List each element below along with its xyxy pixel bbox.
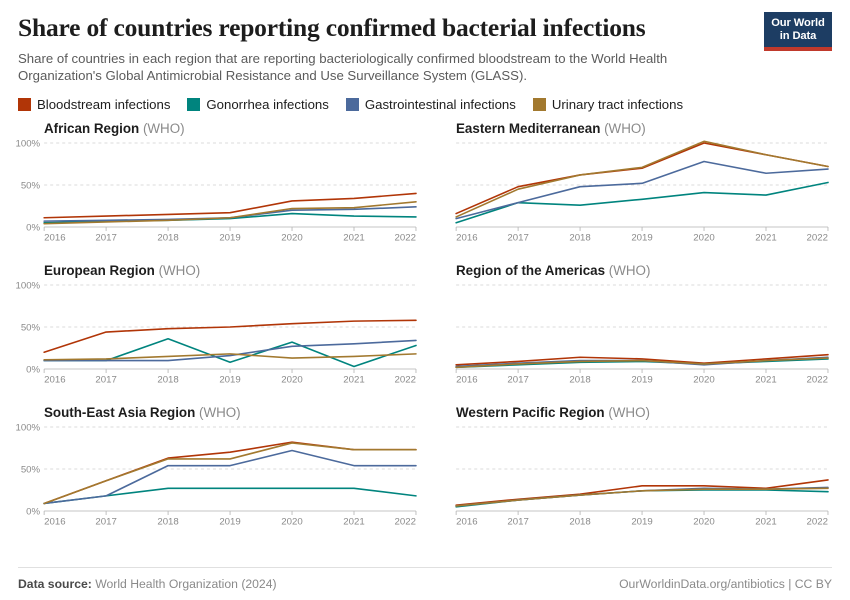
x-tick-label: 2019 [219,516,240,527]
x-tick-label: 2021 [755,232,776,243]
series-line-bloodstream-infections[interactable] [456,143,828,214]
panel-title-south-east-asia-region: South-East Asia Region (WHO) [44,405,420,420]
y-tick-label: 0% [26,364,40,375]
panel-region-name: Western Pacific Region [456,405,605,420]
chart-footer: Data source: World Health Organization (… [18,567,832,600]
x-tick-label: 2019 [631,516,652,527]
x-tick-label: 2021 [343,516,364,527]
attribution-link[interactable]: OurWorldinData.org/antibiotics | CC BY [619,577,832,591]
plot-svg-western-pacific-region: 2016201720182019202020212022 [430,423,832,527]
x-tick-label: 2017 [95,516,116,527]
x-tick-label: 2019 [631,374,652,385]
panel-region-name: Eastern Mediterranean [456,121,600,136]
x-tick-label: 2022 [807,374,828,385]
panel-region-suffix: (WHO) [605,405,650,420]
legend-item-1[interactable]: Gonorrhea infections [187,97,328,112]
x-tick-label: 2016 [456,516,477,527]
plot-svg-african-region: 0%50%100%2016201720182019202020212022 [18,139,420,243]
legend-swatch-icon [18,98,31,111]
y-tick-label: 50% [21,464,41,475]
plot-area-region-of-the-americas: 2016201720182019202020212022 [430,281,832,385]
panel-title-eastern-mediterranean: Eastern Mediterranean (WHO) [456,121,832,136]
series-line-gastrointestinal-infections[interactable] [44,340,416,360]
x-tick-label: 2021 [755,374,776,385]
x-tick-label: 2016 [44,232,65,243]
chart-panel-african-region: African Region (WHO)0%50%100%20162017201… [18,121,420,263]
x-tick-label: 2022 [807,516,828,527]
x-tick-label: 2020 [693,516,714,527]
series-line-gonorrhea-infections[interactable] [456,490,828,507]
x-tick-label: 2020 [281,374,302,385]
data-source: Data source: World Health Organization (… [18,577,277,591]
legend-item-label: Urinary tract infections [552,97,683,112]
y-tick-label: 50% [21,180,41,191]
plot-area-south-east-asia-region: 0%50%100%2016201720182019202020212022 [18,423,420,527]
x-tick-label: 2016 [44,516,65,527]
x-tick-label: 2017 [507,516,528,527]
x-tick-label: 2018 [569,516,590,527]
chart-panel-south-east-asia-region: South-East Asia Region (WHO)0%50%100%201… [18,405,420,553]
x-tick-label: 2018 [569,232,590,243]
plot-area-western-pacific-region: 2016201720182019202020212022 [430,423,832,527]
data-source-value: World Health Organization (2024) [95,577,276,591]
x-tick-label: 2019 [219,232,240,243]
logo-line-2: in Data [780,30,817,42]
x-tick-label: 2018 [157,232,178,243]
x-tick-label: 2020 [693,232,714,243]
x-tick-label: 2019 [219,374,240,385]
x-tick-label: 2020 [693,374,714,385]
x-tick-label: 2021 [343,232,364,243]
x-tick-label: 2022 [395,232,416,243]
chart-legend: Bloodstream infectionsGonorrhea infectio… [0,85,850,112]
plot-svg-eastern-mediterranean: 2016201720182019202020212022 [430,139,832,243]
page-title: Share of countries reporting confirmed b… [18,14,832,43]
y-tick-label: 0% [26,222,40,233]
panel-title-european-region: European Region (WHO) [44,263,420,278]
x-tick-label: 2021 [343,374,364,385]
y-tick-label: 100% [15,280,40,291]
plot-svg-european-region: 0%50%100%2016201720182019202020212022 [18,281,420,385]
legend-item-label: Gonorrhea infections [206,97,328,112]
legend-item-label: Gastrointestinal infections [365,97,516,112]
legend-swatch-icon [533,98,546,111]
x-tick-label: 2022 [807,232,828,243]
plot-area-eastern-mediterranean: 2016201720182019202020212022 [430,139,832,243]
x-tick-label: 2016 [456,232,477,243]
legend-item-label: Bloodstream infections [37,97,170,112]
panel-region-name: Region of the Americas [456,263,605,278]
panel-region-suffix: (WHO) [600,121,645,136]
y-tick-label: 100% [15,138,40,149]
x-tick-label: 2016 [456,374,477,385]
panel-title-african-region: African Region (WHO) [44,121,420,136]
y-tick-label: 0% [26,506,40,517]
chart-panel-european-region: European Region (WHO)0%50%100%2016201720… [18,263,420,405]
panel-region-suffix: (WHO) [139,121,184,136]
legend-swatch-icon [187,98,200,111]
logo-line-1: Our World [771,17,825,29]
x-tick-label: 2019 [631,232,652,243]
x-tick-label: 2022 [395,374,416,385]
chart-panel-eastern-mediterranean: Eastern Mediterranean (WHO)2016201720182… [430,121,832,263]
legend-item-0[interactable]: Bloodstream infections [18,97,170,112]
series-line-urinary-tract-infections[interactable] [456,141,828,217]
panel-title-western-pacific-region: Western Pacific Region (WHO) [456,405,832,420]
data-source-label: Data source: [18,577,92,591]
x-tick-label: 2018 [157,374,178,385]
panel-title-region-of-the-americas: Region of the Americas (WHO) [456,263,832,278]
panel-region-name: African Region [44,121,139,136]
chart-panel-western-pacific-region: Western Pacific Region (WHO)201620172018… [430,405,832,553]
panel-region-suffix: (WHO) [155,263,200,278]
x-tick-label: 2016 [44,374,65,385]
x-tick-label: 2017 [95,374,116,385]
plot-area-european-region: 0%50%100%2016201720182019202020212022 [18,281,420,385]
panel-region-suffix: (WHO) [195,405,240,420]
y-tick-label: 100% [15,422,40,433]
x-tick-label: 2021 [755,516,776,527]
x-tick-label: 2020 [281,232,302,243]
x-tick-label: 2017 [95,232,116,243]
panel-region-name: European Region [44,263,155,278]
plot-svg-south-east-asia-region: 0%50%100%2016201720182019202020212022 [18,423,420,527]
x-tick-label: 2018 [569,374,590,385]
plot-area-african-region: 0%50%100%2016201720182019202020212022 [18,139,420,243]
x-tick-label: 2017 [507,232,528,243]
x-tick-label: 2020 [281,516,302,527]
series-line-bloodstream-infections[interactable] [44,193,416,217]
chart-subtitle: Share of countries in each region that a… [18,50,718,85]
plot-svg-region-of-the-americas: 2016201720182019202020212022 [430,281,832,385]
legend-item-3[interactable]: Urinary tract infections [533,97,683,112]
y-tick-label: 50% [21,322,41,333]
series-line-bloodstream-infections[interactable] [44,442,416,503]
legend-item-2[interactable]: Gastrointestinal infections [346,97,516,112]
our-world-in-data-logo[interactable]: Our World in Data [764,12,832,51]
series-line-bloodstream-infections[interactable] [44,320,416,352]
panel-region-name: South-East Asia Region [44,405,195,420]
panel-region-suffix: (WHO) [605,263,650,278]
x-tick-label: 2017 [507,374,528,385]
legend-swatch-icon [346,98,359,111]
chart-panel-region-of-the-americas: Region of the Americas (WHO)201620172018… [430,263,832,405]
x-tick-label: 2018 [157,516,178,527]
x-tick-label: 2022 [395,516,416,527]
chart-panel-grid: African Region (WHO)0%50%100%20162017201… [0,121,850,553]
chart-header: Share of countries reporting confirmed b… [0,0,850,85]
